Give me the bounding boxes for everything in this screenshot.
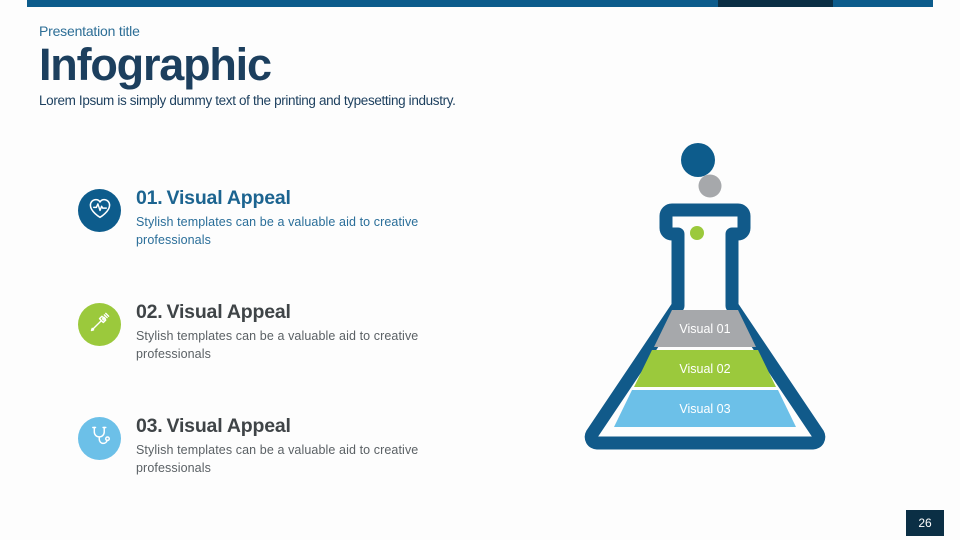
- list-item-text: 01.Visual Appeal Stylish templates can b…: [136, 186, 424, 250]
- list-item-heading: 03.Visual Appeal: [136, 415, 424, 437]
- list-item-number: 02.: [136, 301, 163, 323]
- flask-layer-1-label: Visual 01: [679, 322, 730, 336]
- flask-layer-3-label: Visual 03: [679, 402, 730, 416]
- flask-diagram: Visual 01 Visual 02 Visual 03: [560, 138, 860, 468]
- heart-pulse-icon: [87, 195, 113, 226]
- icon-badge-3: [78, 417, 121, 460]
- list-item-heading: 02.Visual Appeal: [136, 301, 424, 323]
- list-item-text: 03.Visual Appeal Stylish templates can b…: [136, 414, 424, 478]
- icon-badge-1: [78, 189, 121, 232]
- presentation-title-eyebrow: Presentation title: [39, 24, 739, 39]
- list-item-title: Visual Appeal: [167, 301, 291, 323]
- bubble-neck-dot: [690, 226, 704, 240]
- icon-badge-2: [78, 303, 121, 346]
- stethoscope-icon: [87, 423, 113, 454]
- flask-layer-2-label: Visual 02: [679, 362, 730, 376]
- feature-list: 01.Visual Appeal Stylish templates can b…: [78, 186, 498, 478]
- list-item-title: Visual Appeal: [167, 187, 291, 209]
- top-accent-bar-dark-segment: [718, 0, 833, 7]
- list-item-number: 03.: [136, 415, 163, 437]
- list-item[interactable]: 03.Visual Appeal Stylish templates can b…: [78, 414, 498, 478]
- list-item[interactable]: 01.Visual Appeal Stylish templates can b…: [78, 186, 498, 250]
- page-number-badge: 26: [906, 510, 944, 536]
- list-item-text: 02.Visual Appeal Stylish templates can b…: [136, 300, 424, 364]
- list-item[interactable]: 02.Visual Appeal Stylish templates can b…: [78, 300, 498, 364]
- list-item-description: Stylish templates can be a valuable aid …: [136, 442, 424, 478]
- page-title: Infographic: [39, 41, 739, 88]
- bubble-large: [681, 143, 715, 177]
- bubble-small: [699, 175, 722, 198]
- list-item-title: Visual Appeal: [167, 415, 291, 437]
- syringe-icon: [87, 309, 113, 340]
- list-item-description: Stylish templates can be a valuable aid …: [136, 328, 424, 364]
- slide: Presentation title Infographic Lorem Ips…: [0, 0, 960, 540]
- list-item-number: 01.: [136, 187, 163, 209]
- slide-header: Presentation title Infographic Lorem Ips…: [39, 24, 739, 109]
- list-item-heading: 01.Visual Appeal: [136, 187, 424, 209]
- slide-subtitle: Lorem Ipsum is simply dummy text of the …: [39, 93, 739, 109]
- list-item-description: Stylish templates can be a valuable aid …: [136, 214, 424, 250]
